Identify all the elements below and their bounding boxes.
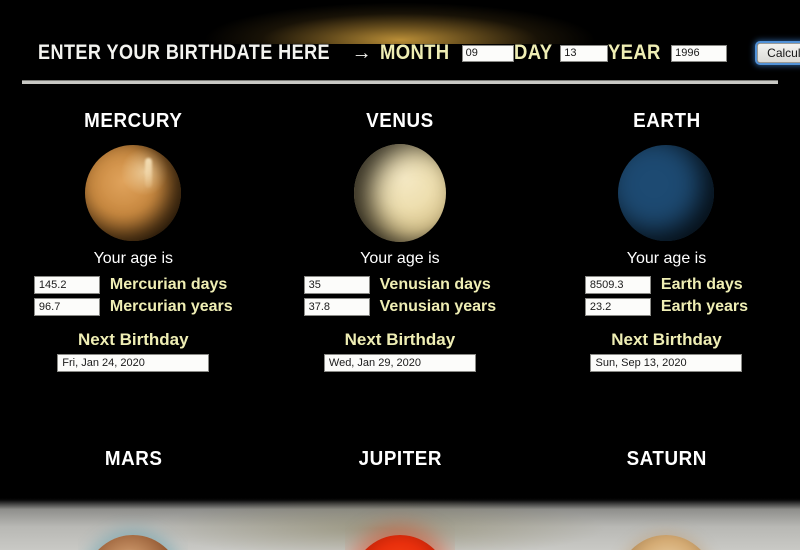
day-input[interactable]	[560, 45, 608, 62]
planet-title-jupiter: JUPITER	[358, 448, 441, 471]
mars-sphere-icon	[85, 535, 181, 550]
planet-column-saturn: SATURN	[533, 448, 800, 550]
mercury-sphere-icon	[85, 145, 181, 241]
earth-days-value[interactable]	[585, 276, 651, 294]
header-divider	[22, 80, 778, 84]
next-birthday-label-mercury: Next Birthday	[78, 330, 189, 350]
earth-years-unit: Earth years	[661, 298, 748, 316]
planet-title-venus: VENUS	[366, 110, 434, 133]
planet-title-saturn: SATURN	[626, 448, 706, 471]
planet-title-earth: EARTH	[633, 110, 701, 133]
planet-grid-row-2: MARS JUPITER SATURN	[0, 448, 800, 550]
planet-image-wrap-mercury	[78, 142, 188, 244]
planet-column-jupiter: JUPITER	[267, 448, 534, 550]
planet-age-calculator-page: ENTER YOUR BIRTHDATE HERE → MONTH DAY YE…	[0, 0, 800, 550]
earth-days-unit: Earth days	[661, 276, 743, 294]
planet-image-wrap-mars	[78, 505, 188, 550]
age-row-days-earth: Earth days	[585, 276, 748, 294]
age-rows-venus: Venusian days Venusian years	[304, 276, 497, 316]
calculate-button[interactable]: Calculate	[757, 43, 800, 63]
planet-grid-row-1: MERCURY Your age is Mercurian days Mercu…	[0, 110, 800, 372]
month-input[interactable]	[462, 45, 514, 62]
saturn-sphere-icon	[618, 535, 714, 550]
age-rows-mercury: Mercurian days Mercurian years	[34, 276, 233, 316]
jupiter-sphere-icon	[352, 535, 448, 550]
next-birthday-value-mercury[interactable]	[57, 354, 209, 372]
your-age-label-earth: Your age is	[627, 250, 706, 268]
planet-column-earth: EARTH Your age is Earth days Earth years…	[533, 110, 800, 372]
arrow-right-icon: →	[352, 42, 372, 65]
planet-column-mercury: MERCURY Your age is Mercurian days Mercu…	[0, 110, 267, 372]
birthdate-entry-bar: ENTER YOUR BIRTHDATE HERE → MONTH DAY YE…	[0, 32, 800, 74]
your-age-label-venus: Your age is	[360, 250, 439, 268]
mercurian-years-value[interactable]	[34, 298, 100, 316]
age-row-days-mercury: Mercurian days	[34, 276, 233, 294]
year-input[interactable]	[671, 45, 727, 62]
day-label: DAY	[514, 41, 552, 65]
next-birthday-label-venus: Next Birthday	[345, 330, 456, 350]
venusian-days-unit: Venusian days	[380, 276, 491, 294]
planet-image-wrap-jupiter	[345, 505, 455, 550]
venusian-years-value[interactable]	[304, 298, 370, 316]
mercurian-years-unit: Mercurian years	[110, 298, 233, 316]
year-label: YEAR	[608, 41, 661, 65]
header-title: ENTER YOUR BIRTHDATE HERE	[38, 41, 330, 65]
next-birthday-value-earth[interactable]	[590, 354, 742, 372]
age-row-years-venus: Venusian years	[304, 298, 497, 316]
mercurian-days-unit: Mercurian days	[110, 276, 227, 294]
next-birthday-value-venus[interactable]	[324, 354, 476, 372]
mercurian-days-value[interactable]	[34, 276, 100, 294]
next-birthday-label-earth: Next Birthday	[611, 330, 722, 350]
planet-column-mars: MARS	[0, 448, 267, 550]
planet-column-venus: VENUS Your age is Venusian days Venusian…	[267, 110, 534, 372]
earth-sphere-icon	[618, 145, 714, 241]
planet-image-wrap-venus	[345, 142, 455, 244]
your-age-label-mercury: Your age is	[94, 250, 173, 268]
age-row-years-mercury: Mercurian years	[34, 298, 233, 316]
planet-image-wrap-earth	[611, 142, 721, 244]
planet-title-mercury: MERCURY	[84, 110, 182, 133]
age-rows-earth: Earth days Earth years	[585, 276, 748, 316]
venus-sphere-icon	[354, 144, 446, 242]
earth-years-value[interactable]	[585, 298, 651, 316]
age-row-years-earth: Earth years	[585, 298, 748, 316]
planet-image-wrap-saturn	[611, 505, 721, 550]
venusian-years-unit: Venusian years	[380, 298, 497, 316]
planet-title-mars: MARS	[104, 448, 162, 471]
age-row-days-venus: Venusian days	[304, 276, 497, 294]
month-label: MONTH	[380, 41, 450, 65]
venusian-days-value[interactable]	[304, 276, 370, 294]
